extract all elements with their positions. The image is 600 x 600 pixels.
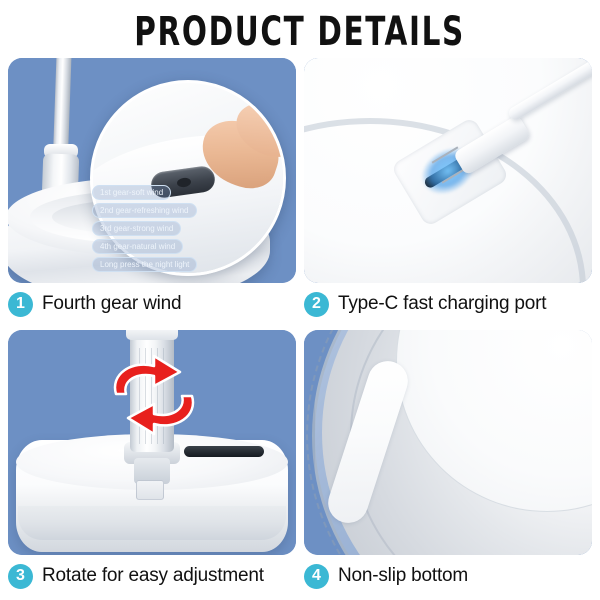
gear-callout-list: 1st gear-soft wind 2nd gear-refreshing w… [92, 185, 292, 272]
gear-callout-5: Long press the night light [92, 257, 197, 272]
panel-grid: 1st gear-soft wind 2nd gear-refreshing w… [8, 58, 592, 592]
panel-1: 1st gear-soft wind 2nd gear-refreshing w… [8, 58, 296, 320]
rotate-left-arrow-icon [128, 396, 193, 434]
panel-2-caption-text: Type-C fast charging port [338, 293, 546, 315]
round-base-band [18, 506, 286, 540]
panel-3-image [8, 330, 296, 555]
gear-callout-1: 1st gear-soft wind [92, 185, 171, 200]
gear-callout-4: 4th gear-natural wind [92, 239, 183, 254]
gear-callout-2: 2nd gear-refreshing wind [92, 203, 197, 218]
pole-upper-collar [126, 330, 178, 340]
product-details-infographic: PRODUCT DETAILS [0, 0, 600, 600]
panel-2-caption: 2 Type-C fast charging port [304, 289, 592, 319]
rotation-arrows-group [104, 352, 204, 436]
panel-4: 4 Non-slip bottom [304, 330, 592, 592]
panel-3-caption-text: Rotate for easy adjustment [42, 565, 264, 587]
panel-3-caption: 3 Rotate for easy adjustment [8, 561, 296, 591]
base-logo-badge [136, 480, 164, 500]
gear-callout-3: 3rd gear-strong wind [92, 221, 181, 236]
page-title: PRODUCT DETAILS [135, 12, 466, 52]
panel-4-caption: 4 Non-slip bottom [304, 561, 592, 591]
panel-3: 3 Rotate for easy adjustment [8, 330, 296, 592]
page-title-bar: PRODUCT DETAILS [0, 8, 600, 56]
panel-2-image [304, 58, 592, 283]
panel-3-number-badge: 3 [8, 564, 33, 589]
panel-4-number-badge: 4 [304, 564, 329, 589]
rotate-right-arrow-icon [115, 356, 180, 394]
panel-2: 2 Type-C fast charging port [304, 58, 592, 320]
panel-1-image: 1st gear-soft wind 2nd gear-refreshing w… [8, 58, 296, 283]
panel-1-number-badge: 1 [8, 292, 33, 317]
panel-1-caption-text: Fourth gear wind [42, 293, 181, 315]
panel-1-caption: 1 Fourth gear wind [8, 289, 296, 319]
panel-4-image [304, 330, 592, 555]
base-vent-slot [184, 446, 264, 457]
panel-2-number-badge: 2 [304, 292, 329, 317]
panel-4-caption-text: Non-slip bottom [338, 565, 468, 587]
